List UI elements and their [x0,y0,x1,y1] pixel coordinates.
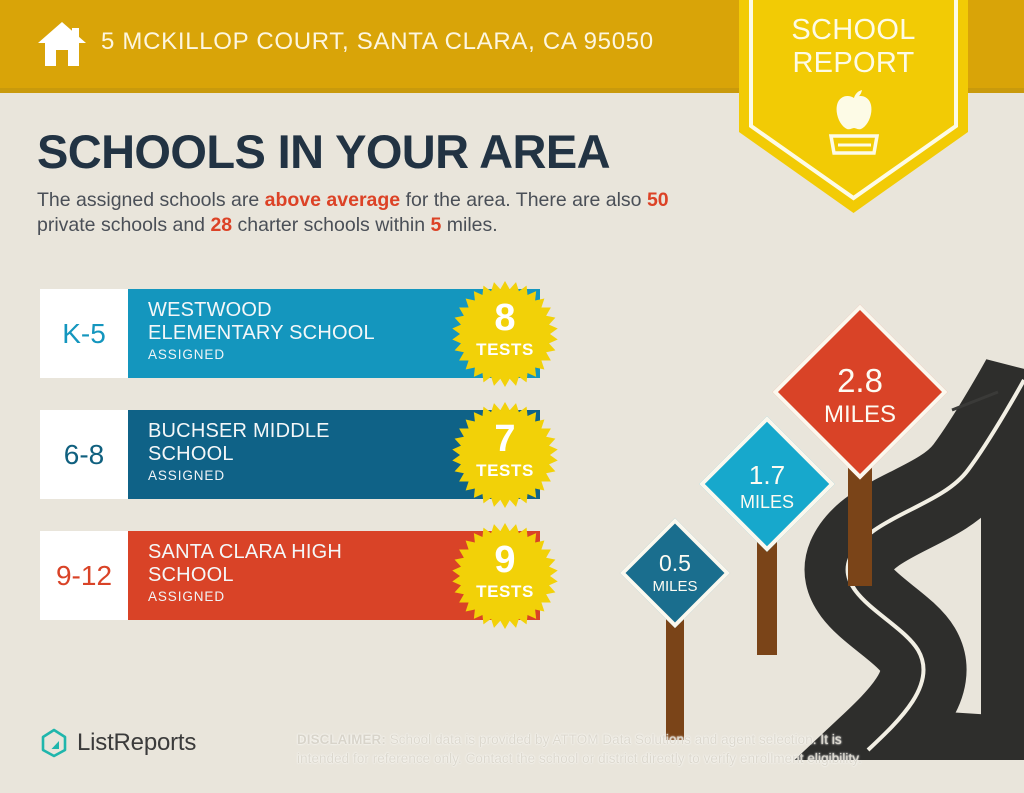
subtitle: The assigned schools are above average f… [37,188,717,238]
grade-range-label: 9-12 [56,560,112,592]
school-report-infographic: 5 MCKILLOP COURT, SANTA CLARA, CA 95050 … [0,0,1024,793]
subtitle-highlight-private-count: 50 [647,189,669,211]
subtitle-part-5: miles. [441,214,497,236]
subtitle-highlight-radius: 5 [430,214,441,236]
grade-range-box: 6-8 [40,410,128,499]
subtitle-part-1: The assigned schools are [37,189,265,211]
grade-range-box: 9-12 [40,531,128,620]
disclaimer-text: DISCLAIMER: School data is provided by A… [297,731,897,768]
school-row[interactable]: 6-8 BUCHSER MIDDLE SCHOOL ASSIGNED 7 TES… [40,410,540,499]
test-score-badge: 7 TESTS [452,402,558,508]
test-score-badge: 9 TESTS [452,523,558,629]
test-score-value: 8 [452,299,558,337]
property-address: 5 MCKILLOP COURT, SANTA CLARA, CA 95050 [101,28,654,56]
school-row[interactable]: K-5 WESTWOOD ELEMENTARY SCHOOL ASSIGNED … [40,289,540,378]
home-icon [36,20,88,68]
listreports-logo[interactable]: ListReports [40,728,196,758]
apple-on-book-icon [814,90,894,156]
test-score-value: 7 [452,420,558,458]
test-score-badge: 8 TESTS [452,281,558,387]
grade-range-label: 6-8 [64,439,104,471]
page-title: SCHOOLS IN YOUR AREA [37,124,610,179]
disclaimer-label: DISCLAIMER: [297,732,386,747]
subtitle-highlight-charter-count: 28 [210,214,232,236]
subtitle-part-2: for the area. There are also [400,189,647,211]
test-score-label: TESTS [452,340,558,360]
subtitle-part-4: charter schools within [232,214,430,236]
subtitle-part-3: private schools and [37,214,210,236]
grade-range-label: K-5 [62,318,106,350]
listreports-wordmark: ListReports [77,729,196,757]
school-row[interactable]: 9-12 SANTA CLARA HIGH SCHOOL ASSIGNED 9 … [40,531,540,620]
grade-range-box: K-5 [40,289,128,378]
subtitle-highlight-above-average: above average [265,189,401,211]
listreports-house-icon [40,728,68,758]
test-score-label: TESTS [452,582,558,602]
school-report-badge: SCHOOL REPORT [731,0,976,214]
test-score-value: 9 [452,541,558,579]
test-score-label: TESTS [452,461,558,481]
road-scene: 2.8 MILES 1.7 MILES 0.5 MILES [600,320,1024,760]
